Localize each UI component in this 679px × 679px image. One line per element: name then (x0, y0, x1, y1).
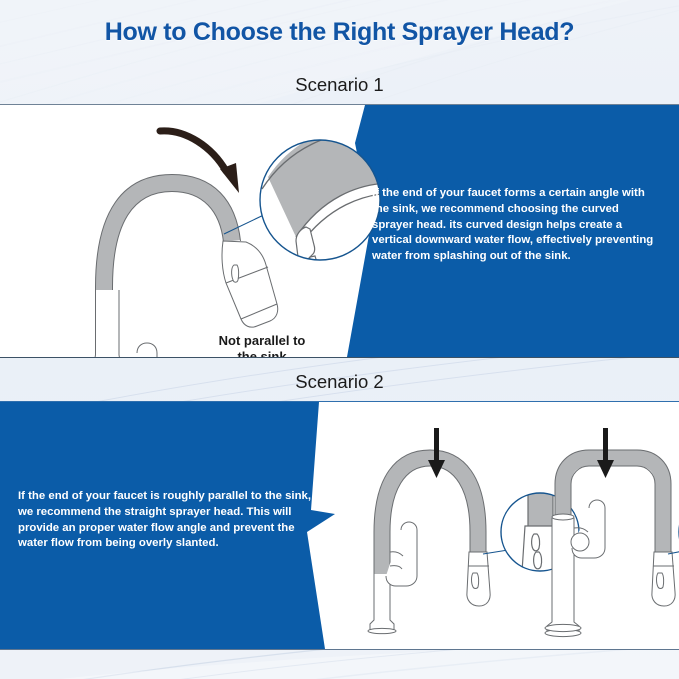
scenario-1-callout-label: Not parallel to the sink (196, 333, 328, 358)
infographic-stage: How to Choose the Right Sprayer Head? Sc… (0, 0, 679, 679)
curved-faucet-drawing (85, 175, 278, 358)
faucet-square-bend-drawing (545, 450, 675, 637)
scenario-2-label: Scenario 2 (0, 371, 679, 393)
page-title: How to Choose the Right Sprayer Head? (0, 18, 679, 47)
faucet-gooseneck-drawing (368, 450, 490, 634)
scenario-1-body-text: If the end of your faucet forms a certai… (372, 186, 662, 265)
scenario-2-body-text: If the end of your faucet is roughly par… (18, 489, 318, 552)
scenario-1-label: Scenario 1 (0, 74, 679, 96)
